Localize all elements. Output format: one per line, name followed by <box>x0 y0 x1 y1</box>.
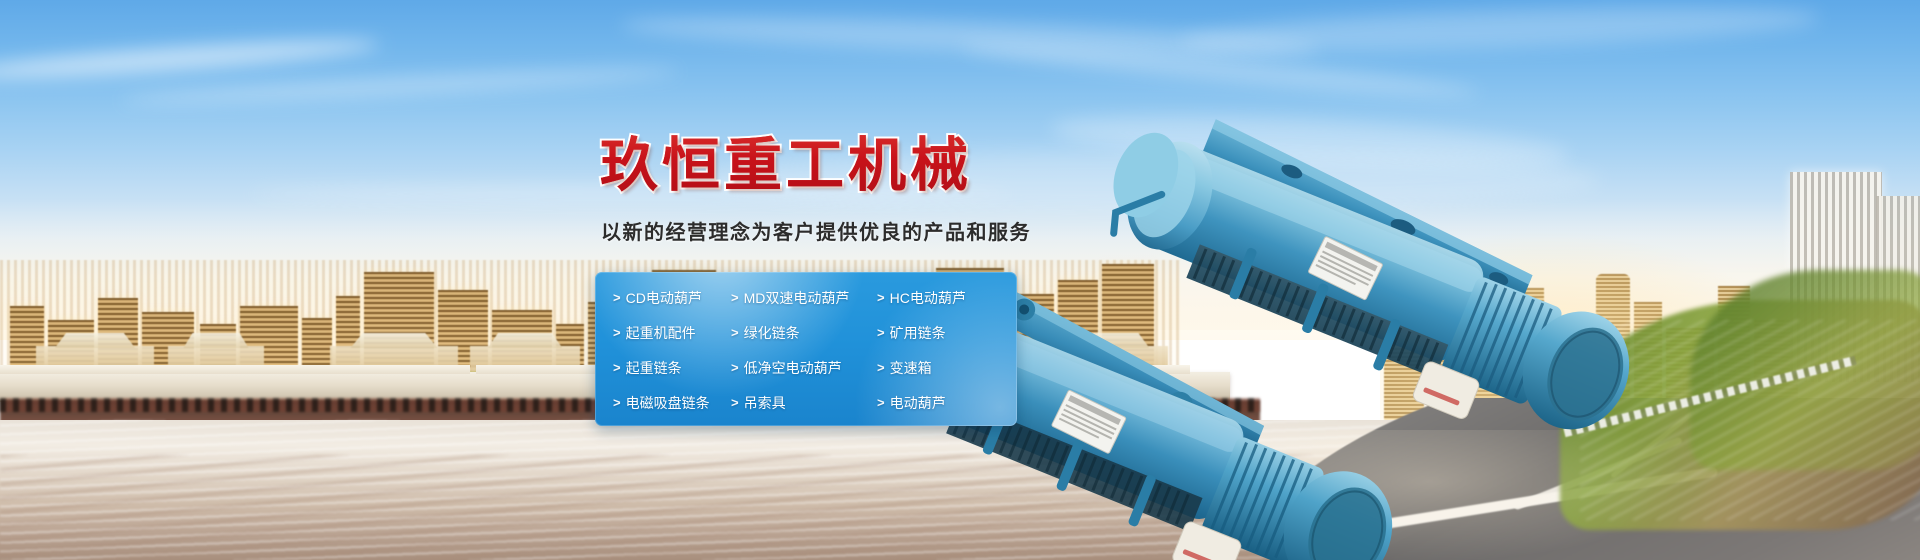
product-link-label: 绿化链条 <box>744 326 800 340</box>
product-link-label: 起重链条 <box>626 361 682 375</box>
banner-stage: 玖恒重工机械 玖恒重工机械 以新的经营理念为客户提供优良的产品和服务 >CD电动… <box>0 0 1920 560</box>
product-link[interactable]: >起重机配件 <box>613 326 731 340</box>
product-link[interactable]: >矿用链条 <box>877 326 1035 340</box>
chevron-right-icon: > <box>613 396 621 409</box>
product-link-label: 矿用链条 <box>890 326 946 340</box>
product-link-label: 电动葫芦 <box>890 396 946 410</box>
product-link-label: CD电动葫芦 <box>626 291 702 305</box>
product-grid: >CD电动葫芦>MD双速电动葫芦>HC电动葫芦>起重机配件>绿化链条>矿用链条>… <box>595 272 1017 426</box>
chevron-right-icon: > <box>877 291 885 304</box>
product-link-label: HC电动葫芦 <box>890 291 966 305</box>
chevron-right-icon: > <box>877 361 885 374</box>
chevron-right-icon: > <box>731 396 739 409</box>
product-link[interactable]: >吊索具 <box>731 396 877 410</box>
chevron-right-icon: > <box>731 291 739 304</box>
product-link[interactable]: >起重链条 <box>613 361 731 375</box>
chevron-right-icon: > <box>613 361 621 374</box>
chevron-right-icon: > <box>877 396 885 409</box>
product-link-label: MD双速电动葫芦 <box>744 291 850 305</box>
product-link-label: 吊索具 <box>744 396 786 410</box>
product-link-label: 电磁吸盘链条 <box>626 396 710 410</box>
product-link[interactable]: >MD双速电动葫芦 <box>731 291 877 305</box>
product-link[interactable]: >低净空电动葫芦 <box>731 361 877 375</box>
page-title-fill: 玖恒重工机械 <box>600 118 972 202</box>
product-link-label: 低净空电动葫芦 <box>744 361 842 375</box>
product-link[interactable]: >CD电动葫芦 <box>613 291 731 305</box>
product-link[interactable]: >电动葫芦 <box>877 396 1035 410</box>
chevron-right-icon: > <box>613 291 621 304</box>
product-link[interactable]: >变速箱 <box>877 361 1035 375</box>
product-link-label: 变速箱 <box>890 361 932 375</box>
chevron-right-icon: > <box>613 326 621 339</box>
product-link[interactable]: >HC电动葫芦 <box>877 291 1035 305</box>
chevron-right-icon: > <box>731 361 739 374</box>
product-link[interactable]: >电磁吸盘链条 <box>613 396 731 410</box>
product-link-label: 起重机配件 <box>626 326 696 340</box>
page-subtitle: 以新的经营理念为客户提供优良的产品和服务 <box>601 216 1031 245</box>
product-list-panel: >CD电动葫芦>MD双速电动葫芦>HC电动葫芦>起重机配件>绿化链条>矿用链条>… <box>595 272 1017 426</box>
chevron-right-icon: > <box>877 326 885 339</box>
chevron-right-icon: > <box>731 326 739 339</box>
product-link[interactable]: >绿化链条 <box>731 326 877 340</box>
